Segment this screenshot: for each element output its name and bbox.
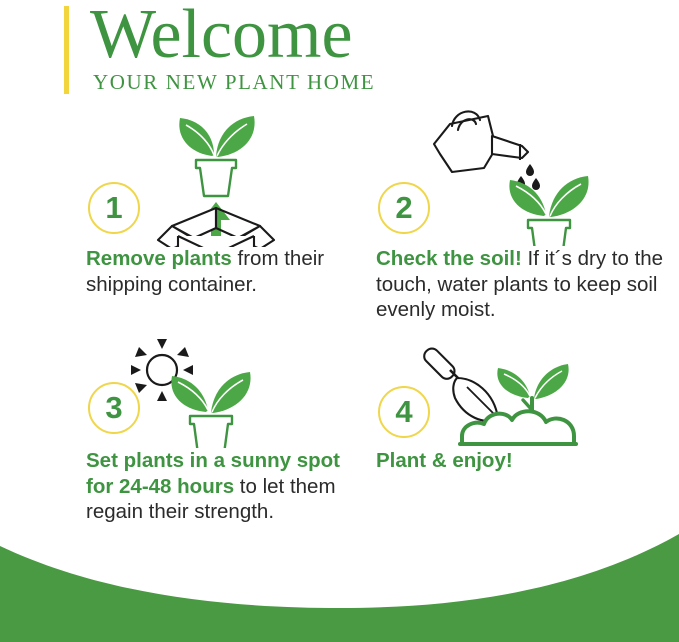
step-text-highlight: Remove plants bbox=[86, 247, 232, 270]
step-number: 1 bbox=[105, 192, 122, 223]
step-2-text: Check the soil! If it´s dry to the touch… bbox=[376, 246, 671, 323]
step-number: 3 bbox=[105, 392, 122, 423]
step-badge-circle: 4 bbox=[378, 386, 430, 438]
step-text-highlight: Check the soil! bbox=[376, 247, 522, 270]
step-3-text: Set plants in a sunny spot for 24-48 hou… bbox=[86, 448, 341, 525]
header: Welcome YOUR NEW PLANT HOME bbox=[0, 0, 679, 104]
step-number: 4 bbox=[395, 396, 412, 427]
step-4-badge: 4 bbox=[378, 386, 430, 438]
step-text-highlight: Plant & enjoy! bbox=[376, 449, 513, 472]
step-1-text: Remove plants from their shipping contai… bbox=[86, 246, 336, 297]
step-badge-circle: 2 bbox=[378, 182, 430, 234]
step-4-text: Plant & enjoy! bbox=[376, 448, 666, 474]
watering-can-plant-icon bbox=[422, 106, 622, 251]
page-title: Welcome bbox=[90, 0, 353, 74]
page-subtitle: YOUR NEW PLANT HOME bbox=[93, 70, 375, 94]
header-accent-bar bbox=[64, 6, 69, 94]
step-2-badge: 2 bbox=[378, 182, 430, 234]
bottom-green-wave bbox=[0, 532, 679, 642]
step-3-badge: 3 bbox=[88, 382, 140, 434]
sun-and-plant-icon bbox=[124, 338, 274, 453]
trowel-seedling-soil-icon bbox=[422, 340, 622, 460]
welcome-plant-care-infographic: Welcome YOUR NEW PLANT HOME bbox=[0, 0, 679, 642]
step-number: 2 bbox=[395, 192, 412, 223]
plant-lifted-from-box-icon bbox=[150, 112, 280, 252]
step-badge-circle: 1 bbox=[88, 182, 140, 234]
step-badge-circle: 3 bbox=[88, 382, 140, 434]
step-1-badge: 1 bbox=[88, 182, 140, 234]
